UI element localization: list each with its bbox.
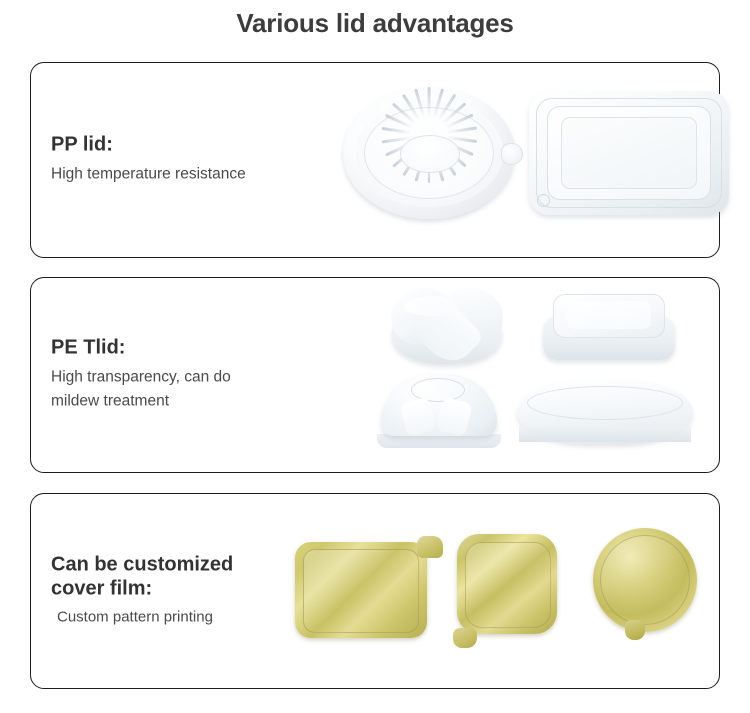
panel-cover-film-images xyxy=(331,494,719,688)
panel-pe-tlid-images xyxy=(331,278,719,472)
gold-square-cover-film-image xyxy=(457,534,567,646)
square-pe-lid-inner-panel xyxy=(567,301,651,329)
round-pp-lid-image xyxy=(343,87,515,219)
square-pe-lid-image xyxy=(543,290,675,362)
dome-pe-lid-base xyxy=(377,434,501,448)
gold-rectangular-cover-film-tab xyxy=(417,536,443,558)
panel-pe-tlid-heading: PE Tlid: xyxy=(51,337,341,361)
rectangular-pp-lid-notch xyxy=(537,194,550,207)
panel-cover-film: Can be customized cover film: Custom pat… xyxy=(30,493,720,689)
oval-pe-lid-ring xyxy=(527,386,683,420)
round-pp-lid-rib xyxy=(447,127,477,134)
gold-round-cover-film-image xyxy=(593,528,705,646)
panel-pe-tlid: PE Tlid: High transparency, can do milde… xyxy=(30,277,720,473)
round-pp-lid-tab xyxy=(501,143,523,165)
panel-pp-lid-images xyxy=(331,63,719,257)
dome-pe-lid-image xyxy=(377,374,501,448)
panel-pp-lid-heading: PP lid: xyxy=(51,134,341,158)
gold-round-cover-film-inner-edge xyxy=(600,535,690,625)
heart-pe-lid-highlight xyxy=(405,296,459,316)
heart-pe-lid-image xyxy=(389,286,505,364)
gold-round-cover-film-tab xyxy=(625,620,645,640)
oval-pe-lid-lip xyxy=(519,426,691,442)
rectangular-pp-lid-ridge-3 xyxy=(561,117,697,189)
page-title: Various lid advantages xyxy=(0,8,750,39)
round-pp-lid-rib xyxy=(428,87,431,117)
panel-pe-tlid-text: PE Tlid: High transparency, can do milde… xyxy=(51,337,341,414)
gold-rectangular-cover-film-inner-edge xyxy=(303,549,419,633)
gold-rectangular-cover-film-image xyxy=(295,536,441,640)
panel-pp-lid-text: PP lid: High temperature resistance xyxy=(51,134,341,187)
panel-pp-lid-subtext: High temperature resistance xyxy=(51,162,341,186)
gold-square-cover-film-tab xyxy=(453,628,477,648)
gold-square-cover-film-inner-edge xyxy=(465,542,551,628)
round-pp-lid-rib xyxy=(381,127,411,134)
panel-pp-lid: PP lid: High temperature resistance xyxy=(30,62,720,258)
oval-pe-lid-image xyxy=(517,380,693,444)
panel-pe-tlid-subtext: High transparency, can do mildew treatme… xyxy=(51,365,341,413)
rectangular-pp-lid-image xyxy=(529,91,729,215)
